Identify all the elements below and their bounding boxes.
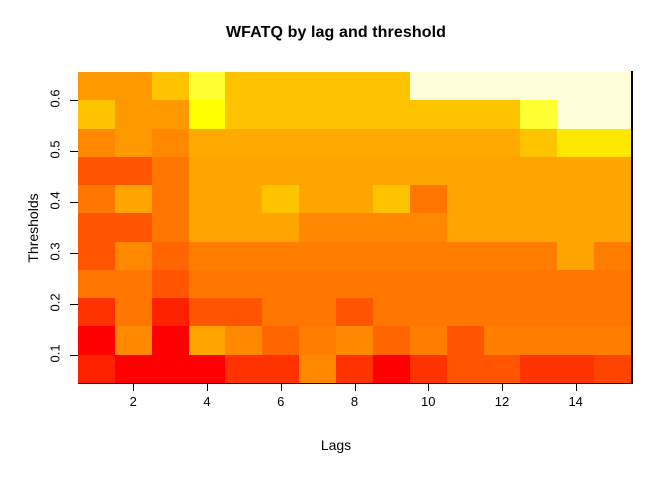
heatmap-cell <box>594 185 631 213</box>
heatmap-cell <box>557 185 594 213</box>
heatmap-cell <box>594 72 631 100</box>
heatmap-cell <box>410 326 447 354</box>
x-axis-tick-label: 10 <box>408 394 448 409</box>
heatmap-cell <box>447 213 484 241</box>
heatmap-cell <box>299 100 336 128</box>
heatmap-cell <box>299 326 336 354</box>
heatmap-cell <box>152 213 189 241</box>
heatmap-cell <box>520 298 557 326</box>
heatmap-cell <box>225 355 262 383</box>
heatmap-cell <box>557 298 594 326</box>
heatmap-cell <box>115 355 152 383</box>
heatmap-cell <box>373 326 410 354</box>
heatmap-cell <box>594 100 631 128</box>
heatmap-cell <box>115 129 152 157</box>
heatmap-cell <box>520 326 557 354</box>
heatmap-cell <box>557 72 594 100</box>
heatmap-cell <box>262 242 299 270</box>
y-axis-tick <box>70 304 78 305</box>
heatmap-cell <box>336 185 373 213</box>
heatmap-cell <box>225 185 262 213</box>
heatmap-cell <box>447 157 484 185</box>
heatmap-cell <box>225 270 262 298</box>
x-axis-tick <box>133 384 134 391</box>
heatmap-cell <box>336 72 373 100</box>
heatmap-cell <box>299 355 336 383</box>
y-axis-tick-label: 0.2 <box>48 293 63 311</box>
heatmap-cell <box>594 242 631 270</box>
y-axis-tick <box>70 151 78 152</box>
heatmap-cell <box>410 213 447 241</box>
heatmap-cell <box>520 185 557 213</box>
heatmap-cell <box>152 185 189 213</box>
heatmap-cell <box>484 270 521 298</box>
heatmap-cell <box>189 185 226 213</box>
x-axis-tick <box>281 384 282 391</box>
y-axis-tick <box>70 100 78 101</box>
heatmap-cell <box>262 185 299 213</box>
heatmap-cell <box>152 270 189 298</box>
heatmap-cell <box>225 129 262 157</box>
heatmap-cell <box>447 270 484 298</box>
heatmap-cell <box>594 270 631 298</box>
heatmap-cell <box>152 129 189 157</box>
y-axis-tick-label: 0.6 <box>48 90 63 108</box>
heatmap-cell <box>152 326 189 354</box>
y-axis-tick <box>70 253 78 254</box>
heatmap-cell <box>262 129 299 157</box>
heatmap-cell <box>225 213 262 241</box>
heatmap-cell <box>78 298 115 326</box>
heatmap-cell <box>115 100 152 128</box>
heatmap-cell <box>299 129 336 157</box>
heatmap-cell <box>225 100 262 128</box>
heatmap-cell <box>189 213 226 241</box>
heatmap-cell <box>447 355 484 383</box>
heatmap-cell <box>484 157 521 185</box>
heatmap-cell <box>78 129 115 157</box>
heatmap-cell <box>520 242 557 270</box>
x-axis-tick-label: 4 <box>187 394 227 409</box>
heatmap-cell <box>78 355 115 383</box>
heatmap-cell <box>410 72 447 100</box>
heatmap-cell <box>373 129 410 157</box>
x-axis-tick-label: 8 <box>335 394 375 409</box>
heatmap-cell <box>410 157 447 185</box>
heatmap-cell <box>594 326 631 354</box>
heatmap-cell <box>520 355 557 383</box>
x-axis-tick-label: 14 <box>556 394 596 409</box>
heatmap-cell <box>78 270 115 298</box>
heatmap-cell <box>373 157 410 185</box>
heatmap-cell <box>78 157 115 185</box>
heatmap-cell <box>115 213 152 241</box>
heatmap-cell <box>336 213 373 241</box>
heatmap-cell <box>152 157 189 185</box>
heatmap-cell <box>189 355 226 383</box>
heatmap-cell <box>152 355 189 383</box>
heatmap-cell <box>299 185 336 213</box>
heatmap-cell <box>484 72 521 100</box>
heatmap-cell <box>447 129 484 157</box>
heatmap-cell <box>447 298 484 326</box>
heatmap-cell <box>447 185 484 213</box>
heatmap-cell <box>336 326 373 354</box>
heatmap-cell <box>557 157 594 185</box>
heatmap-cell <box>299 270 336 298</box>
heatmap-cell <box>484 326 521 354</box>
heatmap-cell <box>336 270 373 298</box>
heatmap-cell <box>299 242 336 270</box>
x-axis-tick <box>576 384 577 391</box>
heatmap-cell <box>189 100 226 128</box>
heatmap-cell <box>594 129 631 157</box>
heatmap-cell <box>594 355 631 383</box>
heatmap-plot-area <box>78 72 631 383</box>
heatmap-cell <box>557 242 594 270</box>
heatmap-cell <box>262 100 299 128</box>
heatmap-cell <box>484 298 521 326</box>
heatmap-cell <box>520 270 557 298</box>
heatmap-cell <box>262 213 299 241</box>
heatmap-cell <box>262 298 299 326</box>
heatmap-cell <box>373 100 410 128</box>
heatmap-cell <box>373 355 410 383</box>
heatmap-cell <box>299 298 336 326</box>
heatmap-cell <box>520 100 557 128</box>
heatmap-cell <box>189 326 226 354</box>
heatmap-cell <box>557 129 594 157</box>
x-axis-tick <box>428 384 429 391</box>
heatmap-cell <box>410 100 447 128</box>
heatmap-figure: WFATQ by lag and threshold 2468101214 La… <box>0 0 672 480</box>
heatmap-cell <box>189 157 226 185</box>
y-axis-tick-label: 0.3 <box>48 242 63 260</box>
heatmap-cell <box>78 100 115 128</box>
y-axis-tick-label: 0.1 <box>48 344 63 362</box>
heatmap-cell <box>78 185 115 213</box>
heatmap-cell <box>410 298 447 326</box>
heatmap-cell <box>336 298 373 326</box>
heatmap-cell <box>189 129 226 157</box>
heatmap-cell <box>336 100 373 128</box>
heatmap-cell <box>115 270 152 298</box>
heatmap-cell <box>557 326 594 354</box>
y-axis-tick-label: 0.4 <box>48 192 63 210</box>
heatmap-cell <box>520 72 557 100</box>
heatmap-cell <box>410 129 447 157</box>
heatmap-cell <box>484 355 521 383</box>
heatmap-cell <box>410 185 447 213</box>
heatmap-cell <box>557 100 594 128</box>
heatmap-cell <box>115 242 152 270</box>
heatmap-cell <box>373 185 410 213</box>
heatmap-cell <box>373 242 410 270</box>
heatmap-cell <box>299 213 336 241</box>
heatmap-cell <box>373 72 410 100</box>
heatmap-cell <box>557 355 594 383</box>
heatmap-cell <box>115 326 152 354</box>
heatmap-cell <box>410 355 447 383</box>
heatmap-cell <box>594 298 631 326</box>
chart-title: WFATQ by lag and threshold <box>0 24 672 42</box>
heatmap-cell <box>484 129 521 157</box>
heatmap-cell <box>484 242 521 270</box>
heatmap-cell <box>484 185 521 213</box>
heatmap-cell <box>115 157 152 185</box>
heatmap-cell <box>447 242 484 270</box>
heatmap-cell <box>189 298 226 326</box>
heatmap-cell <box>447 326 484 354</box>
heatmap-cell <box>78 242 115 270</box>
heatmap-cell <box>225 298 262 326</box>
heatmap-cell <box>115 185 152 213</box>
heatmap-cell <box>262 355 299 383</box>
x-axis-tick-label: 12 <box>482 394 522 409</box>
heatmap-cell <box>152 298 189 326</box>
heatmap-cell <box>262 72 299 100</box>
panel-right-border <box>631 71 633 384</box>
heatmap-cell <box>520 129 557 157</box>
heatmap-cell <box>447 72 484 100</box>
heatmap-cell <box>336 157 373 185</box>
heatmap-cell <box>78 326 115 354</box>
heatmap-cell <box>336 242 373 270</box>
heatmap-cell <box>410 270 447 298</box>
heatmap-cell <box>410 242 447 270</box>
heatmap-cell <box>557 270 594 298</box>
heatmap-cell <box>189 270 226 298</box>
heatmap-cell <box>152 72 189 100</box>
heatmap-cell <box>262 157 299 185</box>
heatmap-cell <box>520 157 557 185</box>
heatmap-cell <box>557 213 594 241</box>
heatmap-cell <box>115 72 152 100</box>
heatmap-cell <box>299 157 336 185</box>
heatmap-cell <box>225 72 262 100</box>
heatmap-cell <box>225 242 262 270</box>
heatmap-cell <box>189 72 226 100</box>
heatmap-cell <box>447 100 484 128</box>
heatmap-cell <box>225 157 262 185</box>
y-axis-tick <box>70 202 78 203</box>
heatmap-cell <box>336 129 373 157</box>
y-axis-tick <box>70 355 78 356</box>
x-axis-tick-label: 6 <box>261 394 301 409</box>
heatmap-cell <box>373 298 410 326</box>
y-axis-title: Thresholds <box>25 108 41 348</box>
x-axis-tick <box>502 384 503 391</box>
heatmap-cell <box>78 213 115 241</box>
heatmap-cell <box>484 213 521 241</box>
heatmap-cell <box>520 213 557 241</box>
heatmap-grid <box>78 72 631 383</box>
heatmap-cell <box>262 326 299 354</box>
heatmap-cell <box>594 157 631 185</box>
y-axis-tick-label: 0.5 <box>48 141 63 159</box>
heatmap-cell <box>78 72 115 100</box>
x-axis-tick <box>207 384 208 391</box>
heatmap-cell <box>373 213 410 241</box>
heatmap-cell <box>484 100 521 128</box>
heatmap-cell <box>225 326 262 354</box>
heatmap-cell <box>189 242 226 270</box>
heatmap-cell <box>373 270 410 298</box>
heatmap-cell <box>336 355 373 383</box>
heatmap-cell <box>262 270 299 298</box>
heatmap-cell <box>152 242 189 270</box>
x-axis-tick-label: 2 <box>113 394 153 409</box>
heatmap-cell <box>594 213 631 241</box>
heatmap-cell <box>115 298 152 326</box>
heatmap-cell <box>299 72 336 100</box>
x-axis-title: Lags <box>0 437 672 453</box>
x-axis-tick <box>355 384 356 391</box>
heatmap-cell <box>152 100 189 128</box>
